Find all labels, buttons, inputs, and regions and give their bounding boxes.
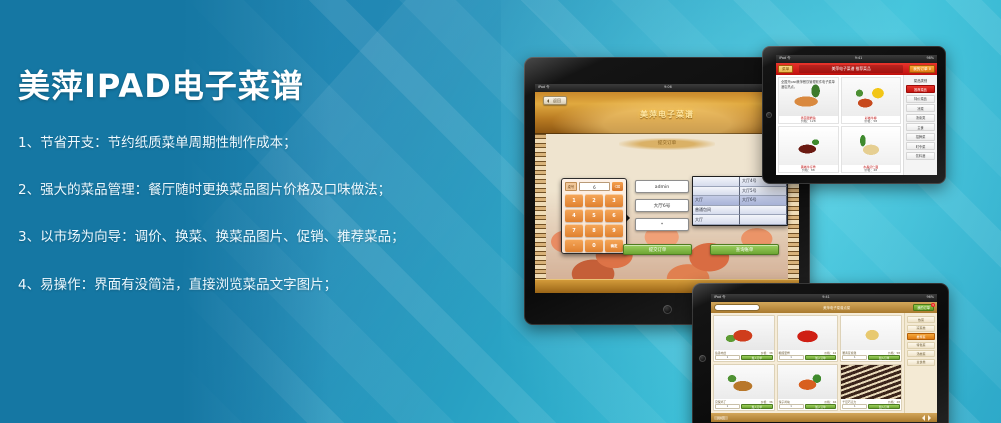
promo-banner: 美萍IPAD电子菜谱 1、节省开支：节约纸质菜单周期性制作成本； 2、强大的菜品… xyxy=(0,0,1001,423)
sidebar-item-hot[interactable]: 热菜 xyxy=(907,316,935,323)
dish-price: 价格：48 xyxy=(842,169,901,173)
statusbar-time: 9:41 xyxy=(855,57,863,60)
dish-actions: 1 加入订单 xyxy=(714,404,774,410)
dish-card[interactable]: 宫保鸡丁 价格：36 1 加入订单 xyxy=(713,364,775,411)
dish-card[interactable]: 辣子鸡块 价格：46 1 加入订单 xyxy=(777,364,839,411)
ordering-title: 美萍电子菜谱点菜 xyxy=(764,305,909,310)
dish-image xyxy=(841,316,901,350)
dish-price: 价格：38 xyxy=(761,351,773,355)
sidebar-item-special[interactable]: 特价菜品 xyxy=(906,95,935,103)
dish-price: 价格：36 xyxy=(761,400,773,404)
dish-caption: 彩椒牛柳 价格：58 xyxy=(842,116,901,123)
ordering-body: 鱼香肉丝 价格：38 1 加入订单 xyxy=(711,313,937,413)
home-button-icon[interactable] xyxy=(663,305,672,314)
feature-item-3: 3、以市场为向导：调价、换菜、换菜品图片、促销、推荐菜品； xyxy=(18,227,488,247)
category-sidebar: 菜品类别 推荐菜品 特价菜品 凉菜 汤羹类 主食 招牌菜 时令菜 饮料酒 xyxy=(903,75,937,175)
password-field[interactable]: * xyxy=(635,218,689,231)
dish-image xyxy=(841,365,901,399)
dish-name: 糖醋里脊 xyxy=(779,351,790,355)
keypad-key[interactable]: 3 xyxy=(605,194,623,207)
category-sidebar: 热菜 凉菜类 推荐菜 特色菜 汤类菜 主食类 xyxy=(904,313,937,413)
statusbar-battery: 98% xyxy=(926,57,934,60)
dish-card[interactable]: 水晶虾仁面 价格：48 xyxy=(841,126,902,173)
statusbar-time: 9:06 xyxy=(664,86,672,89)
add-to-order-button[interactable]: 加入订单 xyxy=(805,404,837,409)
banner-copy: 美萍IPAD电子菜谱 1、节省开支：节约纸质菜单周期性制作成本； 2、强大的菜品… xyxy=(18,68,488,295)
statusbar-carrier: iPad 令 xyxy=(538,86,550,89)
pagination-nav xyxy=(919,415,934,421)
dish-actions: 1 加入订单 xyxy=(841,404,901,410)
submit-order-button[interactable]: 提交订单 xyxy=(623,244,692,255)
menu-login-app: 美萍电子菜谱 返回 提交订单 桌号 6 ⌫ 1 xyxy=(535,92,799,293)
sidebar-title: 菜品类别 xyxy=(906,78,935,83)
statusbar-battery: 96% xyxy=(926,296,934,299)
add-to-order-button[interactable]: 加入订单 xyxy=(741,404,773,409)
search-input[interactable] xyxy=(714,304,760,311)
app-title: 美萍电子菜谱 xyxy=(535,109,799,120)
table-list-left-column: 大厅 普通包间 大厅 xyxy=(693,177,740,225)
keypad-key[interactable]: 2 xyxy=(585,194,603,207)
table-list-right-column: 大厅4号 大厅5号 大厅6号 xyxy=(740,177,787,225)
dish-image xyxy=(714,316,774,350)
keypad-key[interactable]: · xyxy=(565,239,583,252)
gallery-title: 美萍电子菜谱 推荐菜品 xyxy=(799,65,903,73)
tablet-topright-bezel: iPad 令 9:41 98% 菜单 美萍电子菜谱 推荐菜品 我的订单 0 全国… xyxy=(762,46,946,184)
dish-price: 价格：42 xyxy=(824,351,836,355)
add-to-order-button[interactable]: 加入订单 xyxy=(868,355,900,360)
dish-card[interactable]: 糖醋里脊 价格：42 1 加入订单 xyxy=(777,315,839,362)
tablet-br-statusbar: iPad 令 9:41 96% xyxy=(711,294,937,302)
dish-actions: 1 加入订单 xyxy=(778,355,838,361)
dish-name: 辣子鸡块 xyxy=(779,400,790,404)
greek-border-left-icon xyxy=(535,134,546,279)
ordering-app: 美萍电子菜谱点菜 我的订单 3 鱼香肉丝 价格：38 xyxy=(711,302,937,422)
quantity-stepper[interactable]: 1 xyxy=(842,404,867,409)
table-cell[interactable]: 大厅 xyxy=(693,215,740,225)
dish-name: 鱼香肉丝 xyxy=(715,351,726,355)
tablet-tr-statusbar: iPad 令 9:41 98% xyxy=(776,55,937,63)
keypad-key[interactable]: 0 xyxy=(585,239,603,252)
dish-card[interactable]: 鱼香肉丝 价格：38 1 加入订单 xyxy=(713,315,775,362)
tablet-main-statusbar: iPad 令 9:06 100% xyxy=(535,84,799,92)
dish-name: 宫保鸡丁 xyxy=(715,400,726,404)
table-cell[interactable]: 大厅 xyxy=(693,196,740,206)
dish-price: 价格：58 xyxy=(842,120,901,124)
sidebar-item-soup[interactable]: 汤类菜 xyxy=(907,350,935,357)
feature-item-4: 4、易操作：界面有没简洁，直接浏览菜品文字图片； xyxy=(18,275,488,295)
keypad-key[interactable]: 5 xyxy=(585,209,603,222)
backspace-icon[interactable]: ⌫ xyxy=(612,182,623,191)
dish-card[interactable]: 全国开pad美萍餐饮管理软件电子菜单 酒店热点。 香煎银鳕鱼 价格：128 xyxy=(778,77,839,124)
table-field[interactable]: 大厅6号 xyxy=(635,199,689,212)
tablet-topright-device: iPad 令 9:41 98% 菜单 美萍电子菜谱 推荐菜品 我的订单 0 全国… xyxy=(762,46,946,184)
statusbar-carrier: iPad 令 xyxy=(779,57,791,60)
action-row: 提交订单 查询账单 xyxy=(623,244,779,255)
feature-item-2: 2、强大的菜品管理：餐厅随时更换菜品图片价格及口味做法； xyxy=(18,180,488,200)
home-button-icon[interactable] xyxy=(766,112,772,118)
cart-badge: 3 xyxy=(931,303,935,307)
add-to-order-button[interactable]: 加入订单 xyxy=(741,355,773,360)
dish-price: 价格：28 xyxy=(888,400,900,404)
cart-button[interactable]: 我的订单 0 xyxy=(909,65,935,73)
dish-caption: 香煎银鳕鱼 价格：128 xyxy=(779,116,838,123)
quantity-stepper[interactable]: 1 xyxy=(779,404,804,409)
gallery-topbar: 菜单 美萍电子菜谱 推荐菜品 我的订单 0 xyxy=(776,63,937,75)
keypad-input[interactable]: 6 xyxy=(579,182,610,191)
dish-actions: 1 加入订单 xyxy=(714,355,774,361)
dish-image xyxy=(778,316,838,350)
keypad-label: 桌号 xyxy=(565,182,577,191)
dish-card[interactable]: 黑椒牛仔骨 价格：88 xyxy=(778,126,839,173)
statusbar-time: 9:41 xyxy=(822,296,830,299)
dish-image xyxy=(778,365,838,399)
keypad-confirm-key[interactable]: 确定 xyxy=(605,239,623,252)
dish-card[interactable]: 千层巧克力 价格：28 1 加入订单 xyxy=(840,364,902,411)
sidebar-item-recommended[interactable]: 推荐菜品 xyxy=(906,85,935,93)
dish-caption: 黑椒牛仔骨 价格：88 xyxy=(779,165,838,172)
cart-label: 我的订单 xyxy=(917,305,930,310)
dish-price: 价格：46 xyxy=(824,400,836,404)
menu-button[interactable]: 菜单 xyxy=(778,65,793,73)
sidebar-item-staple[interactable]: 主食 xyxy=(906,123,935,131)
gallery-body: 全国开pad美萍餐饮管理软件电子菜单 酒店热点。 香煎银鳕鱼 价格：128 xyxy=(776,75,937,175)
dish-grid: 全国开pad美萍餐饮管理软件电子菜单 酒店热点。 香煎银鳕鱼 价格：128 xyxy=(776,75,903,175)
sidebar-item-cold[interactable]: 凉菜 xyxy=(906,104,935,112)
add-to-order-button[interactable]: 加入订单 xyxy=(805,355,837,360)
keypad-display: 桌号 6 ⌫ xyxy=(565,182,623,191)
tablet-bottomright-bezel: iPad 令 9:41 96% 美萍电子菜谱点菜 我的订单 3 xyxy=(692,283,949,423)
keypad-key[interactable]: 1 xyxy=(565,194,583,207)
dish-name: 千层巧克力 xyxy=(842,400,856,404)
table-cell[interactable] xyxy=(693,177,740,187)
dish-price: 价格：88 xyxy=(779,169,838,173)
ad-text: 全国开pad美萍餐饮管理软件电子菜单 酒店热点。 xyxy=(781,79,836,89)
statusbar-carrier: iPad 令 xyxy=(714,296,726,299)
username-field[interactable]: admin xyxy=(635,180,689,193)
dish-card[interactable]: 蟹黄豆腐煲 价格：58 1 加入订单 xyxy=(840,315,902,362)
sidebar-item-soup[interactable]: 汤羹类 xyxy=(906,114,935,122)
prev-page-icon[interactable] xyxy=(919,415,925,421)
dish-grid: 鱼香肉丝 价格：38 1 加入订单 xyxy=(711,313,904,413)
tablet-topright-screen: iPad 令 9:41 98% 菜单 美萍电子菜谱 推荐菜品 我的订单 0 全国… xyxy=(776,55,937,175)
tablet-bottomright-screen: iPad 令 9:41 96% 美萍电子菜谱点菜 我的订单 3 xyxy=(711,294,937,422)
quantity-stepper[interactable]: 1 xyxy=(779,355,804,360)
keypad-key[interactable]: 4 xyxy=(565,209,583,222)
ordering-footer: 共6页 xyxy=(711,413,937,422)
login-form: admin 大厅6号 * xyxy=(635,180,689,237)
quantity-stepper[interactable]: 1 xyxy=(715,355,740,360)
dish-image xyxy=(714,365,774,399)
table-cell[interactable]: 大厅6号 xyxy=(740,196,787,206)
dish-gallery-app: 菜单 美萍电子菜谱 推荐菜品 我的订单 0 全国开pad美萍餐饮管理软件电子菜单… xyxy=(776,63,937,175)
keypad-key[interactable]: 7 xyxy=(565,224,583,237)
sidebar-item-staple[interactable]: 主食类 xyxy=(907,359,935,366)
keypad-grid: 1 2 3 4 5 6 7 8 9 · 0 确定 xyxy=(565,194,623,252)
table-cell[interactable] xyxy=(740,206,787,216)
dish-caption: 水晶虾仁面 价格：48 xyxy=(842,165,901,172)
keypad-key[interactable]: 9 xyxy=(605,224,623,237)
back-button[interactable]: 返回 xyxy=(543,96,567,105)
dish-image xyxy=(779,127,838,165)
dish-image xyxy=(842,78,901,116)
dish-name: 蟹黄豆腐煲 xyxy=(842,351,856,355)
home-button-icon[interactable] xyxy=(699,355,706,362)
dish-price: 价格：58 xyxy=(888,351,900,355)
keypad-key[interactable]: 6 xyxy=(605,209,623,222)
table-cell[interactable]: 普通包间 xyxy=(693,206,740,216)
add-to-order-button[interactable]: 加入订单 xyxy=(868,404,900,409)
table-cell[interactable] xyxy=(740,215,787,225)
dish-actions: 1 加入订单 xyxy=(841,355,901,361)
numeric-keypad[interactable]: 桌号 6 ⌫ 1 2 3 4 5 6 7 8 xyxy=(561,178,627,254)
quantity-stepper[interactable]: 1 xyxy=(842,355,867,360)
sidebar-item-recommended[interactable]: 推荐菜 xyxy=(907,333,935,340)
dish-actions: 1 加入订单 xyxy=(778,404,838,410)
dish-card[interactable]: 彩椒牛柳 价格：58 xyxy=(841,77,902,124)
sidebar-item-cold[interactable]: 凉菜类 xyxy=(907,325,935,332)
sidebar-item-seasonal[interactable]: 时令菜 xyxy=(906,142,935,150)
next-page-icon[interactable] xyxy=(928,415,934,421)
cart-button[interactable]: 我的订单 3 xyxy=(913,304,934,311)
table-cell[interactable]: 大厅5号 xyxy=(740,187,787,197)
page-count-label: 共6页 xyxy=(714,416,728,420)
feature-item-1: 1、节省开支：节约纸质菜单周期性制作成本； xyxy=(18,133,488,153)
quantity-stepper[interactable]: 1 xyxy=(715,404,740,409)
sidebar-item-signature[interactable]: 招牌菜 xyxy=(906,133,935,141)
app-subtitle: 提交订单 xyxy=(619,138,715,150)
sidebar-item-specialty[interactable]: 特色菜 xyxy=(907,342,935,349)
pointer-arrow-icon xyxy=(626,214,634,222)
sidebar-item-drinks[interactable]: 饮料酒 xyxy=(906,152,935,160)
ordering-topbar: 美萍电子菜谱点菜 我的订单 3 xyxy=(711,302,937,313)
tablet-bottomright-device: iPad 令 9:41 96% 美萍电子菜谱点菜 我的订单 3 xyxy=(692,283,949,423)
dish-image xyxy=(842,127,901,165)
tablet-main-screen: iPad 令 9:06 100% 美萍电子菜谱 返回 提交订单 xyxy=(535,84,799,293)
page-title: 美萍IPAD电子菜谱 xyxy=(18,68,488,106)
keypad-key[interactable]: 8 xyxy=(585,224,603,237)
dish-price: 价格：128 xyxy=(779,120,838,124)
query-bill-button[interactable]: 查询账单 xyxy=(710,244,779,255)
table-cell[interactable] xyxy=(693,187,740,197)
